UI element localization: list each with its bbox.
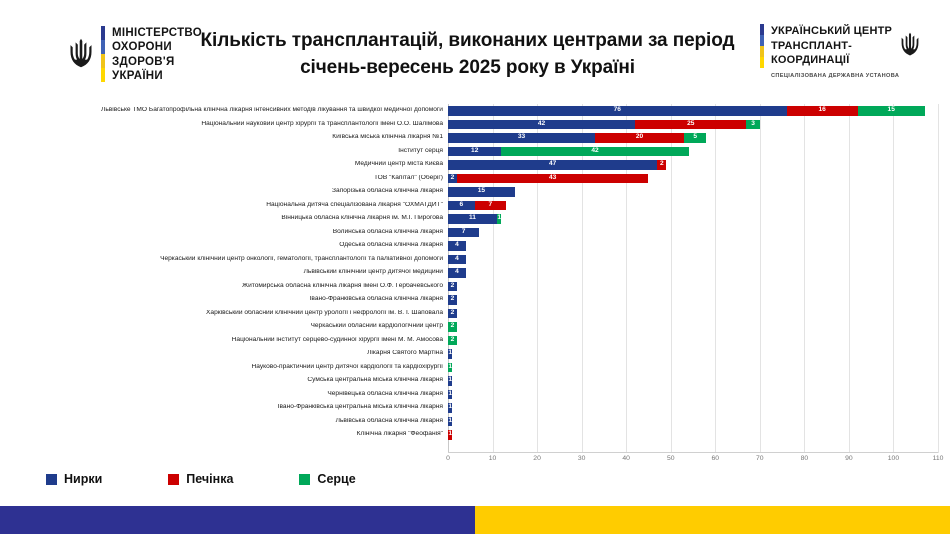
- x-tick-label: 90: [845, 455, 853, 462]
- x-tick-label: 50: [667, 455, 675, 462]
- legend-swatch-icon: [46, 474, 57, 485]
- heart-segment: 1: [448, 363, 452, 373]
- chart-row: Сумська центральна міська клінічна лікар…: [0, 374, 950, 388]
- liver-segment: 43: [457, 174, 649, 184]
- kidney-segment: 2: [448, 295, 457, 305]
- kidney-segment: 1: [448, 403, 452, 413]
- kidney-segment: 1: [448, 349, 452, 359]
- legend-label: Серце: [317, 472, 355, 486]
- chart-row: Житомирська обласна клінічна лікарня іме…: [0, 280, 950, 294]
- kidney-segment: 1: [448, 417, 452, 427]
- category-label: Науково-практичний центр дитячої кардіол…: [0, 364, 448, 371]
- stacked-bar: 4: [448, 266, 938, 280]
- ucts-line-3: КООРДИНАЦІЇ: [771, 53, 892, 68]
- chart-row: Львівське ТМО Багатопрофільна клінічна л…: [0, 104, 950, 118]
- heart-segment: 1: [497, 214, 501, 224]
- flag-stripe-blue: [0, 506, 475, 534]
- tryzub-icon: [68, 26, 94, 80]
- chart-row: Вінницька обласна клінічна лікарня ім. М…: [0, 212, 950, 226]
- legend-label: Печінка: [186, 472, 233, 486]
- x-tick-label: 70: [756, 455, 764, 462]
- flag-stripe-yellow: [475, 506, 950, 534]
- stacked-bar: 111: [448, 212, 938, 226]
- chart-row: Національний науковий центр хірургії та …: [0, 118, 950, 132]
- category-label: Житомирська обласна клінічна лікарня іме…: [0, 283, 448, 290]
- chart-rows: Львівське ТМО Багатопрофільна клінічна л…: [0, 104, 950, 442]
- stacked-bar: 243: [448, 172, 938, 186]
- stacked-bar: 1: [448, 388, 938, 402]
- ukraine-flag-footer: [0, 506, 950, 534]
- kidney-segment: 4: [448, 241, 466, 251]
- category-label: Національний інститут серцево-судинної х…: [0, 337, 448, 344]
- category-label: Одеська обласна клінічна лікарня: [0, 242, 448, 249]
- x-tick-label: 20: [533, 455, 541, 462]
- category-label: Клінічна лікарня "Феофанія": [0, 431, 448, 438]
- heart-segment: 3: [746, 120, 759, 130]
- stacked-bar: 1: [448, 374, 938, 388]
- category-label: Національний науковий центр хірургії та …: [0, 121, 448, 128]
- category-label: Сумська центральна міська клінічна лікар…: [0, 377, 448, 384]
- chart-legend: НиркиПечінкаСерце: [46, 472, 356, 486]
- chart-row: Запорізька обласна клінічна лікарня15: [0, 185, 950, 199]
- kidney-segment: 76: [448, 106, 787, 116]
- stacked-bar: 33205: [448, 131, 938, 145]
- liver-segment: 7: [475, 201, 506, 211]
- kidney-segment: 4: [448, 255, 466, 265]
- chart-row: Київська міська клінічна лікарня №133205: [0, 131, 950, 145]
- stacked-bar: 2: [448, 334, 938, 348]
- heart-segment: 42: [501, 147, 688, 157]
- stacked-bar: 67: [448, 199, 938, 213]
- category-label: Національна дитяча спеціалізована лікарн…: [0, 202, 448, 209]
- liver-segment: 20: [595, 133, 684, 143]
- chart-row: Львівська обласна клінічна лікарня1: [0, 415, 950, 429]
- stacked-bar: 472: [448, 158, 938, 172]
- legend-item[interactable]: Нирки: [46, 472, 102, 486]
- chart-row: Одеська обласна клінічна лікарня4: [0, 239, 950, 253]
- tryzub-icon: [901, 32, 919, 60]
- x-tick-label: 0: [446, 455, 450, 462]
- category-label: ТОВ "Капітал" (Оберіг): [0, 175, 448, 182]
- category-label: Запорізька обласна клінічна лікарня: [0, 188, 448, 195]
- kidney-segment: 12: [448, 147, 501, 157]
- chart-row: Лікарня Святого Мартіна1: [0, 347, 950, 361]
- chart-row: Волинська обласна клінічна лікарня7: [0, 226, 950, 240]
- category-label: Вінницька обласна клінічна лікарня ім. М…: [0, 215, 448, 222]
- ucts-name: УКРАЇНСЬКИЙ ЦЕНТР ТРАНСПЛАНТ- КООРДИНАЦІ…: [771, 24, 892, 68]
- stacked-bar: 2: [448, 280, 938, 294]
- kidney-segment: 33: [448, 133, 595, 143]
- category-label: Черкаський клінічний центр онкології, ге…: [0, 256, 448, 263]
- page-title-line-2: січень-вересень 2025 року в Україні: [185, 55, 750, 82]
- kidney-segment: 42: [448, 120, 635, 130]
- ucts-accent-bars: [760, 24, 764, 68]
- heart-segment: 2: [448, 336, 457, 346]
- category-label: Волинська обласна клінічна лікарня: [0, 229, 448, 236]
- stacked-bar: 761615: [448, 104, 938, 118]
- heart-segment: 15: [858, 106, 925, 116]
- kidney-segment: 1: [448, 390, 452, 400]
- liver-segment: 16: [787, 106, 858, 116]
- kidney-segment: 7: [448, 228, 479, 238]
- legend-swatch-icon: [168, 474, 179, 485]
- category-label: Черкаський обласний кардіологічний центр: [0, 323, 448, 330]
- category-label: Івано-Франківська центральна міська клін…: [0, 404, 448, 411]
- kidney-segment: 47: [448, 160, 657, 170]
- slide-header: МІНІСТЕРСТВО ОХОРОНИ ЗДОРОВ'Я УКРАЇНИ Кі…: [0, 0, 950, 100]
- ministry-of-health-logo: МІНІСТЕРСТВО ОХОРОНИ ЗДОРОВ'Я УКРАЇНИ: [68, 26, 202, 84]
- stacked-bar: 1: [448, 428, 938, 442]
- x-tick-label: 30: [578, 455, 586, 462]
- stacked-bar: 42253: [448, 118, 938, 132]
- category-label: Львівський клінічний центр дитячої медиц…: [0, 269, 448, 276]
- stacked-bar: 1: [448, 347, 938, 361]
- stacked-bar: 1: [448, 415, 938, 429]
- kidney-segment: 1: [448, 376, 452, 386]
- stacked-bar: 15: [448, 185, 938, 199]
- x-tick-label: 40: [622, 455, 630, 462]
- transplant-coordination-center-logo: УКРАЇНСЬКИЙ ЦЕНТР ТРАНСПЛАНТ- КООРДИНАЦІ…: [760, 24, 935, 79]
- liver-segment: 1: [448, 430, 452, 440]
- x-tick-label: 10: [489, 455, 497, 462]
- category-label: Лікарня Святого Мартіна: [0, 350, 448, 357]
- chart-row: Харківський обласний клінічний центр уро…: [0, 307, 950, 321]
- legend-label: Нирки: [64, 472, 102, 486]
- stacked-bar: 7: [448, 226, 938, 240]
- kidney-segment: 6: [448, 201, 475, 211]
- heart-segment: 2: [448, 322, 457, 332]
- kidney-segment: 2: [448, 174, 457, 184]
- category-label: Львівська обласна клінічна лікарня: [0, 418, 448, 425]
- chart-row: Інститут серця1242: [0, 145, 950, 159]
- chart-row: Національний інститут серцево-судинної х…: [0, 334, 950, 348]
- x-axis-ticks: 0102030405060708090100110: [448, 453, 938, 467]
- category-label: Медичний центр міста Києва: [0, 161, 448, 168]
- x-tick-label: 80: [801, 455, 809, 462]
- stacked-bar: 2: [448, 293, 938, 307]
- ucts-line-2: ТРАНСПЛАНТ-: [771, 39, 892, 54]
- category-label: Івано-Франківська обласна клінічна лікар…: [0, 296, 448, 303]
- chart-row: Івано-Франківська обласна клінічна лікар…: [0, 293, 950, 307]
- x-tick-label: 100: [888, 455, 899, 462]
- stacked-bar: 4: [448, 239, 938, 253]
- chart-row: Черкаський обласний кардіологічний центр…: [0, 320, 950, 334]
- ucts-line-1: УКРАЇНСЬКИЙ ЦЕНТР: [771, 24, 892, 39]
- chart-row: Львівський клінічний центр дитячої медиц…: [0, 266, 950, 280]
- liver-segment: 25: [635, 120, 746, 130]
- kidney-segment: 4: [448, 268, 466, 278]
- page-title-line-1: Кількість трансплантацій, виконаних цент…: [185, 28, 750, 55]
- slide-root: МІНІСТЕРСТВО ОХОРОНИ ЗДОРОВ'Я УКРАЇНИ Кі…: [0, 0, 950, 534]
- legend-swatch-icon: [299, 474, 310, 485]
- transplant-bar-chart: Львівське ТМО Багатопрофільна клінічна л…: [0, 104, 950, 464]
- chart-row: Клінічна лікарня "Феофанія"1: [0, 428, 950, 442]
- heart-segment: 5: [684, 133, 706, 143]
- stacked-bar: 2: [448, 320, 938, 334]
- category-label: Київська міська клінічна лікарня №1: [0, 134, 448, 141]
- chart-row: Національна дитяча спеціалізована лікарн…: [0, 199, 950, 213]
- category-label: Львівське ТМО Багатопрофільна клінічна л…: [0, 107, 448, 114]
- chart-row: Медичний центр міста Києва472: [0, 158, 950, 172]
- kidney-segment: 11: [448, 214, 497, 224]
- kidney-segment: 15: [448, 187, 515, 197]
- x-tick-label: 60: [711, 455, 719, 462]
- chart-row: Науково-практичний центр дитячої кардіол…: [0, 361, 950, 375]
- category-label: Харківський обласний клінічний центр уро…: [0, 310, 448, 317]
- moz-accent-bars: [101, 26, 105, 82]
- stacked-bar: 4: [448, 253, 938, 267]
- category-label: Інститут серця: [0, 148, 448, 155]
- chart-row: Івано-Франківська центральна міська клін…: [0, 401, 950, 415]
- page-title: Кількість трансплантацій, виконаних цент…: [185, 28, 750, 82]
- chart-row: ТОВ "Капітал" (Оберіг)243: [0, 172, 950, 186]
- legend-item[interactable]: Серце: [299, 472, 355, 486]
- liver-segment: 2: [657, 160, 666, 170]
- chart-row: Черкаський клінічний центр онкології, ге…: [0, 253, 950, 267]
- stacked-bar: 1: [448, 401, 938, 415]
- category-label: Чернівецька обласна клінічна лікарня: [0, 391, 448, 398]
- ucts-subtitle: СПЕЦІАЛІЗОВАНА ДЕРЖАВНА УСТАНОВА: [760, 73, 935, 79]
- x-tick-label: 110: [933, 455, 944, 462]
- stacked-bar: 2: [448, 307, 938, 321]
- stacked-bar: 1242: [448, 145, 938, 159]
- kidney-segment: 2: [448, 309, 457, 319]
- chart-row: Чернівецька обласна клінічна лікарня1: [0, 388, 950, 402]
- legend-item[interactable]: Печінка: [168, 472, 233, 486]
- kidney-segment: 2: [448, 282, 457, 292]
- stacked-bar: 1: [448, 361, 938, 375]
